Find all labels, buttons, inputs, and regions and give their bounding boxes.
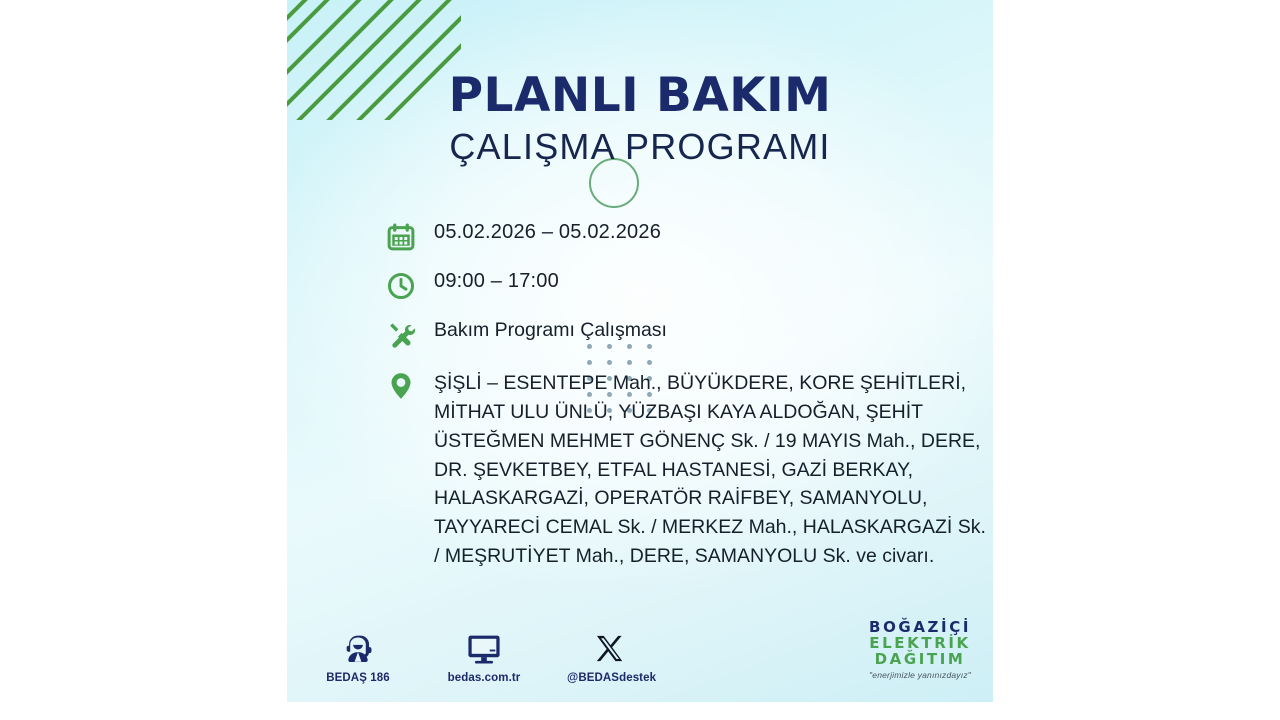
map-pin-icon: [386, 371, 416, 401]
work-type-value: Bakım Programı Çalışması: [434, 320, 667, 340]
channel-website-label: bedas.com.tr: [441, 672, 527, 684]
contact-channels: BEDAŞ 186 bedas.com.tr: [315, 626, 653, 684]
monitor-icon: [441, 626, 527, 666]
time-range-value: 09:00 – 17:00: [434, 271, 559, 292]
location-value: ŞİŞLİ – ESENTEPE Mah., BÜYÜKDERE, KORE Ş…: [434, 369, 986, 571]
support-agent-icon: [315, 626, 401, 666]
x-twitter-icon: [567, 626, 653, 666]
bedas-logo: BOĞAZİÇİ ELEKTRİK DAĞITIM "enerjimizle y…: [869, 620, 971, 680]
info-rows: 05.02.2026 – 05.02.2026 09:00 – 17:00: [386, 222, 986, 590]
footer: BEDAŞ 186 bedas.com.tr: [287, 614, 993, 684]
tools-icon: [386, 320, 416, 350]
page-subtitle: ÇALIŞMA PROGRAMI: [287, 126, 993, 168]
date-range-value: 05.02.2026 – 05.02.2026: [434, 222, 661, 243]
channel-social-label: @BEDASdestek: [567, 672, 653, 684]
maintenance-notice-card: PLANLI BAKIM ÇALIŞMA PROGRAMI: [287, 0, 993, 702]
logo-tagline: "enerjimizle yanınızdayız": [869, 671, 971, 680]
channel-website[interactable]: bedas.com.tr: [441, 626, 527, 684]
channel-social[interactable]: @BEDASdestek: [567, 626, 653, 684]
page-title: PLANLI BAKIM: [287, 68, 993, 123]
info-row-time: 09:00 – 17:00: [386, 271, 986, 301]
clock-icon: [386, 271, 416, 301]
logo-line-3: DAĞITIM: [869, 652, 971, 668]
screenshot-stage: PLANLI BAKIM ÇALIŞMA PROGRAMI: [0, 0, 1280, 720]
channel-phone[interactable]: BEDAŞ 186: [315, 626, 401, 684]
calendar-icon: [386, 222, 416, 252]
info-row-location: ŞİŞLİ – ESENTEPE Mah., BÜYÜKDERE, KORE Ş…: [386, 369, 986, 571]
info-row-work-type: Bakım Programı Çalışması: [386, 320, 986, 350]
channel-phone-label: BEDAŞ 186: [315, 672, 401, 684]
info-row-date: 05.02.2026 – 05.02.2026: [386, 222, 986, 252]
